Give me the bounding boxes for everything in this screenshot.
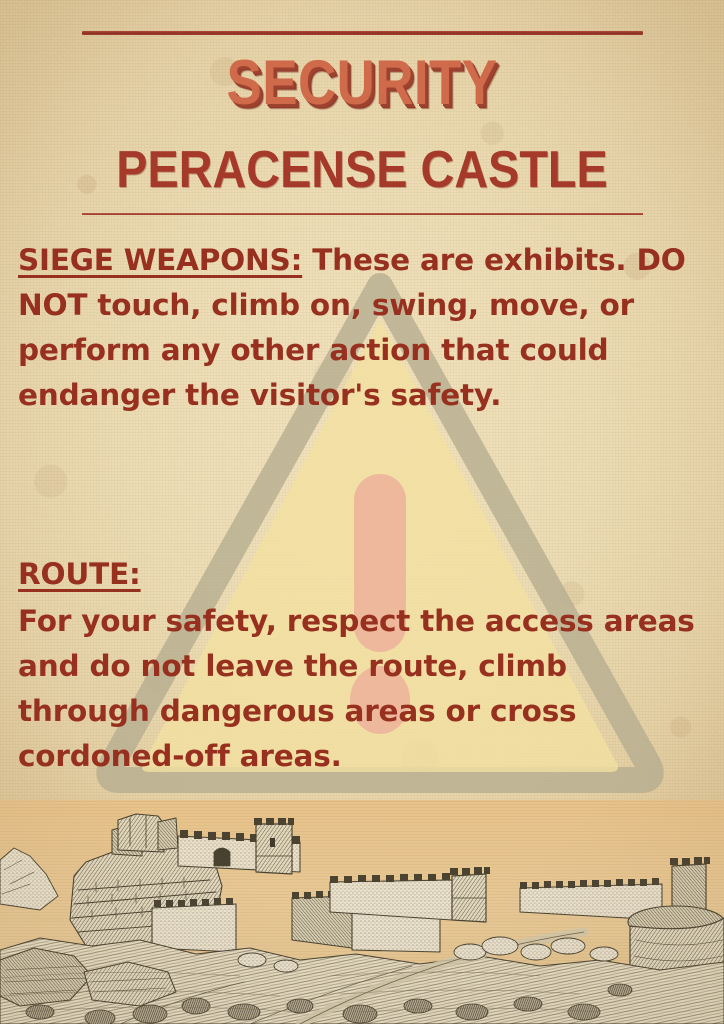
page-title: SECURITY [58,52,666,115]
header-rule-top [82,31,643,35]
security-poster: SECURITY PERACENSE CASTLE SIEGE WEAPONS:… [0,0,724,1024]
page-subtitle: PERACENSE CASTLE [36,144,688,196]
section-heading-siege-weapons: SIEGE WEAPONS: [18,243,302,277]
section-route: ROUTE:For your safety, respect the acces… [18,552,708,779]
section-body-route: For your safety, respect the access area… [18,604,695,773]
castle-illustration [0,800,724,1024]
header-rule-bottom [82,213,643,215]
section-heading-route: ROUTE: [18,552,708,597]
section-siege-weapons: SIEGE WEAPONS: These are exhibits. DO NO… [18,238,708,418]
